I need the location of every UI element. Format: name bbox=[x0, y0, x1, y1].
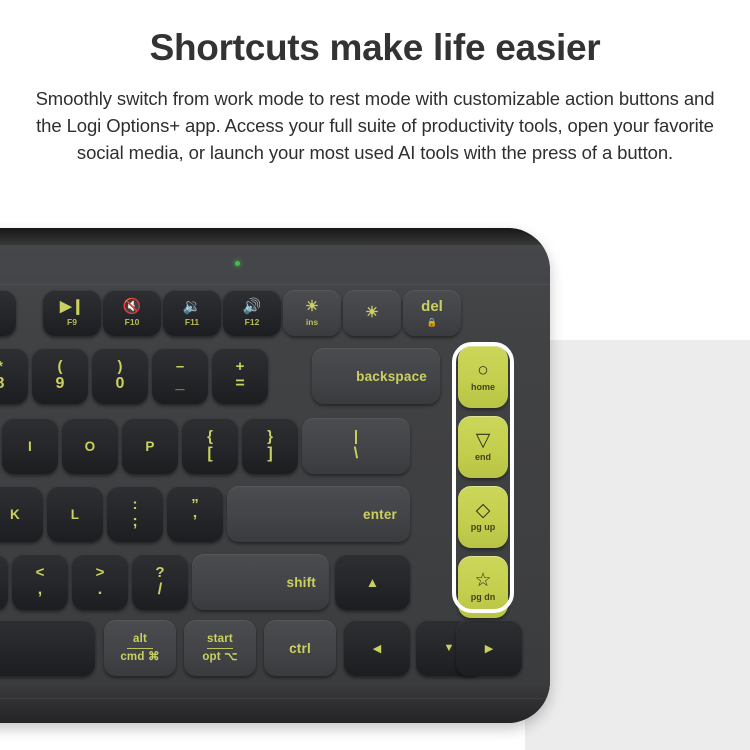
key-bracket-left-legend-top: { bbox=[207, 429, 213, 446]
key-action-end-icon: ▽ bbox=[476, 431, 491, 450]
product-feature-panel: Shortcuts make life easier Smoothly swit… bbox=[0, 0, 750, 750]
key-semicolon-legend: :; bbox=[132, 497, 137, 532]
key-equals-legend-bottom: = bbox=[235, 375, 244, 393]
key-brightness-down[interactable]: ☀ins bbox=[283, 290, 341, 336]
key-action-pgdn-icon: ☆ bbox=[474, 571, 491, 590]
key-semicolon-legend-bottom: ; bbox=[132, 513, 137, 531]
key-arrow-up[interactable]: ▲ bbox=[335, 554, 410, 610]
key-8-partial-legend-bottom: 8 bbox=[0, 375, 4, 393]
key-9[interactable]: (9 bbox=[32, 348, 88, 404]
key-0-legend: )0 bbox=[116, 359, 125, 394]
key-bracket-right-legend-bottom: ] bbox=[267, 445, 272, 463]
key-delete-sublabel: 🔒 bbox=[427, 317, 438, 327]
key-backslash-legend-bottom: \ bbox=[354, 445, 358, 463]
key-action-end[interactable]: ▽end bbox=[458, 416, 508, 478]
key-arrow-right-label: ▶ bbox=[485, 642, 493, 655]
key-period-legend-top: > bbox=[96, 565, 105, 582]
key-comma-legend-bottom: , bbox=[38, 581, 42, 599]
key-i[interactable]: I bbox=[2, 418, 58, 474]
keyboard-top-bevel bbox=[0, 228, 550, 246]
key-shift-right[interactable]: shift bbox=[192, 554, 329, 610]
key-0-legend-bottom: 0 bbox=[116, 375, 125, 393]
side-panel bbox=[525, 340, 750, 750]
key-arrow-left[interactable]: ◀ bbox=[344, 620, 410, 676]
key-bracket-right[interactable]: }] bbox=[242, 418, 298, 474]
key-volume-down[interactable]: 🔉F11 bbox=[163, 290, 221, 336]
key-arrow-right[interactable]: ▶ bbox=[456, 620, 522, 676]
key-minus[interactable]: –_ bbox=[152, 348, 208, 404]
key-alt-cmd-legend-bottom: cmd ⌘ bbox=[120, 651, 159, 664]
key-bracket-left[interactable]: {[ bbox=[182, 418, 238, 474]
key-enter[interactable]: enter bbox=[227, 486, 410, 542]
key-8-partial-legend-top: * bbox=[0, 359, 3, 376]
key-delete[interactable]: del🔒 bbox=[403, 290, 461, 336]
key-delete-glyph: del bbox=[421, 299, 443, 315]
key-9-legend: (9 bbox=[56, 359, 65, 394]
key-o[interactable]: O bbox=[62, 418, 118, 474]
key-o-label: O bbox=[85, 439, 96, 454]
keyboard-bottom-seam bbox=[0, 698, 550, 699]
key-start-opt[interactable]: startopt ⌥ bbox=[184, 620, 256, 676]
key-backspace-label: backspace bbox=[356, 369, 427, 384]
key-arrow-left-label: ◀ bbox=[373, 642, 381, 655]
key-backspace[interactable]: backspace bbox=[312, 348, 440, 404]
key-start-opt-legend-bottom: opt ⌥ bbox=[202, 651, 237, 664]
key-0[interactable]: )0 bbox=[92, 348, 148, 404]
key-action-home[interactable]: ○home bbox=[458, 346, 508, 408]
key-play-pause-sublabel: F9 bbox=[67, 317, 77, 327]
key-k-label: K bbox=[10, 507, 20, 522]
key-volume-up[interactable]: 🔊F12 bbox=[223, 290, 281, 336]
key-semicolon[interactable]: :; bbox=[107, 486, 163, 542]
keyboard-bottom-bevel bbox=[0, 685, 550, 723]
key-mute[interactable]: 🔇F10 bbox=[103, 290, 161, 336]
key-l[interactable]: L bbox=[47, 486, 103, 542]
key-ctrl-label: ctrl bbox=[289, 641, 311, 656]
key-comma-legend: <, bbox=[36, 565, 45, 600]
key-action-pgdn-label: pg dn bbox=[471, 592, 496, 603]
key-start-opt-divider bbox=[207, 648, 233, 649]
keyboard-image: ▶❙F9🔇F10🔉F11🔊F12☀ins☀del🔒(9)0–_+=backspa… bbox=[0, 228, 550, 723]
key-slash-legend: ?/ bbox=[155, 565, 164, 600]
key-backslash-legend-top: | bbox=[354, 429, 358, 446]
key-brightness-down-sublabel: ins bbox=[306, 317, 318, 327]
key-period-legend-bottom: . bbox=[98, 581, 102, 599]
key-9-legend-bottom: 9 bbox=[56, 375, 65, 393]
key-p[interactable]: P bbox=[122, 418, 178, 474]
key-l-label: L bbox=[71, 507, 79, 522]
key-period[interactable]: >. bbox=[72, 554, 128, 610]
key-bracket-left-legend-bottom: [ bbox=[207, 445, 212, 463]
key-minus-legend: –_ bbox=[176, 359, 185, 394]
key-enter-label: enter bbox=[363, 507, 397, 522]
keyboard-plate-seam bbox=[0, 284, 550, 285]
key-backslash[interactable]: |\ bbox=[302, 418, 410, 474]
key-action-home-icon: ○ bbox=[477, 361, 488, 380]
key-equals-legend: += bbox=[235, 359, 244, 394]
key-action-pgup-label: pg up bbox=[471, 522, 496, 533]
key-start-opt-legend-top: start bbox=[207, 633, 233, 646]
key-k[interactable]: K bbox=[0, 486, 43, 542]
key-volume-up-sublabel: F12 bbox=[245, 317, 260, 327]
key-spacebar[interactable] bbox=[0, 620, 95, 676]
key-volume-up-glyph: 🔊 bbox=[243, 299, 262, 315]
key-mute-sublabel: F10 bbox=[125, 317, 140, 327]
key-action-home-label: home bbox=[471, 382, 495, 393]
key-backslash-legend: |\ bbox=[354, 429, 358, 464]
key-shift-right-label: shift bbox=[287, 575, 317, 590]
key-play-pause[interactable]: ▶❙F9 bbox=[43, 290, 101, 336]
key-bracket-right-legend-top: } bbox=[267, 429, 273, 446]
key-8-partial-legend: *8 bbox=[0, 359, 4, 394]
key-brightness-up-glyph: ☀ bbox=[365, 305, 378, 321]
key-brightness-down-glyph: ☀ bbox=[305, 299, 318, 315]
key-m-partial[interactable]: M bbox=[0, 554, 8, 610]
key-i-label: I bbox=[28, 439, 32, 454]
key-minus-legend-top: – bbox=[176, 359, 184, 376]
key-semicolon-legend-top: : bbox=[132, 497, 137, 514]
key-equals-legend-top: + bbox=[236, 359, 245, 376]
key-slash[interactable]: ?/ bbox=[132, 554, 188, 610]
key-minus-legend-bottom: _ bbox=[176, 375, 185, 393]
status-led bbox=[235, 261, 240, 266]
key-p-label: P bbox=[145, 439, 154, 454]
key-ctrl[interactable]: ctrl bbox=[264, 620, 336, 676]
key-slash-legend-top: ? bbox=[155, 565, 164, 582]
key-alt-cmd-legend: altcmd ⌘ bbox=[120, 633, 159, 664]
key-action-end-label: end bbox=[475, 452, 491, 463]
page-description: Smoothly switch from work mode to rest m… bbox=[0, 86, 750, 166]
key-start-opt-legend: startopt ⌥ bbox=[202, 633, 237, 664]
key-period-legend: >. bbox=[96, 565, 105, 600]
key-8-partial[interactable]: *8 bbox=[0, 348, 28, 404]
key-f8-partial[interactable] bbox=[0, 290, 16, 336]
key-comma-legend-top: < bbox=[36, 565, 45, 582]
key-play-pause-glyph: ▶❙ bbox=[60, 299, 84, 315]
key-comma[interactable]: <, bbox=[12, 554, 68, 610]
key-bracket-left-legend: {[ bbox=[207, 429, 213, 464]
key-0-legend-top: ) bbox=[118, 359, 123, 376]
key-slash-legend-bottom: / bbox=[158, 581, 162, 599]
key-bracket-right-legend: }] bbox=[267, 429, 273, 464]
key-arrow-up-label: ▲ bbox=[366, 575, 380, 590]
key-mute-glyph: 🔇 bbox=[123, 299, 142, 315]
key-action-pgup-icon: ◇ bbox=[476, 501, 491, 520]
key-arrow-down-label: ▼ bbox=[444, 642, 455, 654]
key-quote-legend-bottom: ’ bbox=[193, 513, 197, 531]
key-equals[interactable]: += bbox=[212, 348, 268, 404]
key-9-legend-top: ( bbox=[58, 359, 63, 376]
key-quote-legend-top: ” bbox=[191, 497, 199, 514]
key-volume-down-glyph: 🔉 bbox=[183, 299, 202, 315]
key-volume-down-sublabel: F11 bbox=[185, 317, 199, 327]
key-alt-cmd-legend-top: alt bbox=[133, 633, 147, 646]
key-action-pgdn[interactable]: ☆pg dn bbox=[458, 556, 508, 618]
page-title: Shortcuts make life easier bbox=[0, 26, 750, 70]
key-action-pgup[interactable]: ◇pg up bbox=[458, 486, 508, 548]
key-quote-legend: ”’ bbox=[191, 497, 199, 532]
copy-block: Shortcuts make life easier Smoothly swit… bbox=[0, 26, 750, 167]
key-alt-cmd[interactable]: altcmd ⌘ bbox=[104, 620, 176, 676]
key-brightness-up[interactable]: ☀ bbox=[343, 290, 401, 336]
key-alt-cmd-divider bbox=[127, 648, 153, 649]
key-quote[interactable]: ”’ bbox=[167, 486, 223, 542]
